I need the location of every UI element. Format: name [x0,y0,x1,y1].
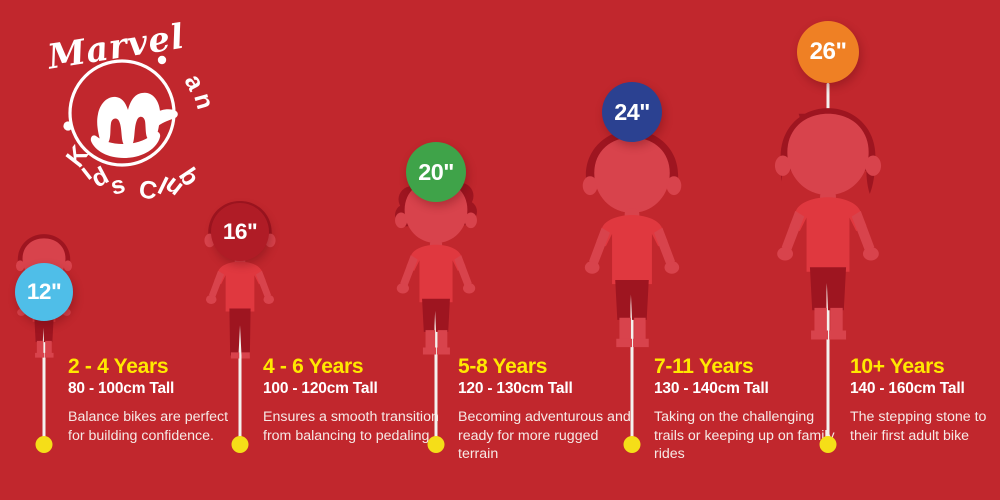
wheel-size-badge-26[interactable]: 26" [797,21,859,83]
age-range-label: 4 - 6 Years [263,355,441,378]
size-info-12: 2 - 4 Years80 - 100cm TallBalance bikes … [68,355,246,445]
height-range-label: 140 - 160cm Tall [850,379,1000,399]
description-text: Becoming adventurous and ready for more … [458,408,640,464]
size-info-26: 10+ Years140 - 160cm TallThe stepping st… [850,355,1000,445]
size-info-24: 7-11 Years130 - 140cm TallTaking on the … [654,355,838,464]
height-range-label: 100 - 120cm Tall [263,379,441,399]
description-text: Balance bikes are perfect for building c… [68,408,246,445]
child-figure-24 [567,112,697,362]
age-range-label: 7-11 Years [654,355,838,378]
wheel-size-badge-16[interactable]: 16" [211,203,269,261]
description-text: The stepping stone to their first adult … [850,408,1000,445]
description-text: Taking on the challenging trails or keep… [654,408,838,464]
wheel-size-badge-24[interactable]: 24" [602,82,662,142]
svg-text:n: n [188,90,219,112]
marvel-kids-club-logo: Marvel K i d s C l u b a n [22,18,222,208]
svg-text:C: C [137,175,159,205]
infographic-canvas: Marvel K i d s C l u b a n [0,0,1000,500]
height-range-label: 80 - 100cm Tall [68,379,246,399]
timeline-dot [36,436,53,453]
size-info-16: 4 - 6 Years100 - 120cm TallEnsures a smo… [263,355,441,445]
svg-text:Marvel: Marvel [44,18,187,78]
timeline-dot [624,436,641,453]
wheel-size-badge-12[interactable]: 12" [15,263,73,321]
size-info-20: 5-8 Years120 - 130cm TallBecoming advent… [458,355,640,464]
child-figure-26 [758,85,898,357]
description-text: Ensures a smooth transition from balanci… [263,408,441,445]
timeline-dot [428,436,445,453]
age-range-label: 10+ Years [850,355,1000,378]
wheel-size-badge-20[interactable]: 20" [406,142,466,202]
svg-text:s: s [108,170,128,201]
timeline-dot [820,436,837,453]
height-range-label: 120 - 130cm Tall [458,379,640,399]
height-range-label: 130 - 140cm Tall [654,379,838,399]
timeline-dot [232,436,249,453]
